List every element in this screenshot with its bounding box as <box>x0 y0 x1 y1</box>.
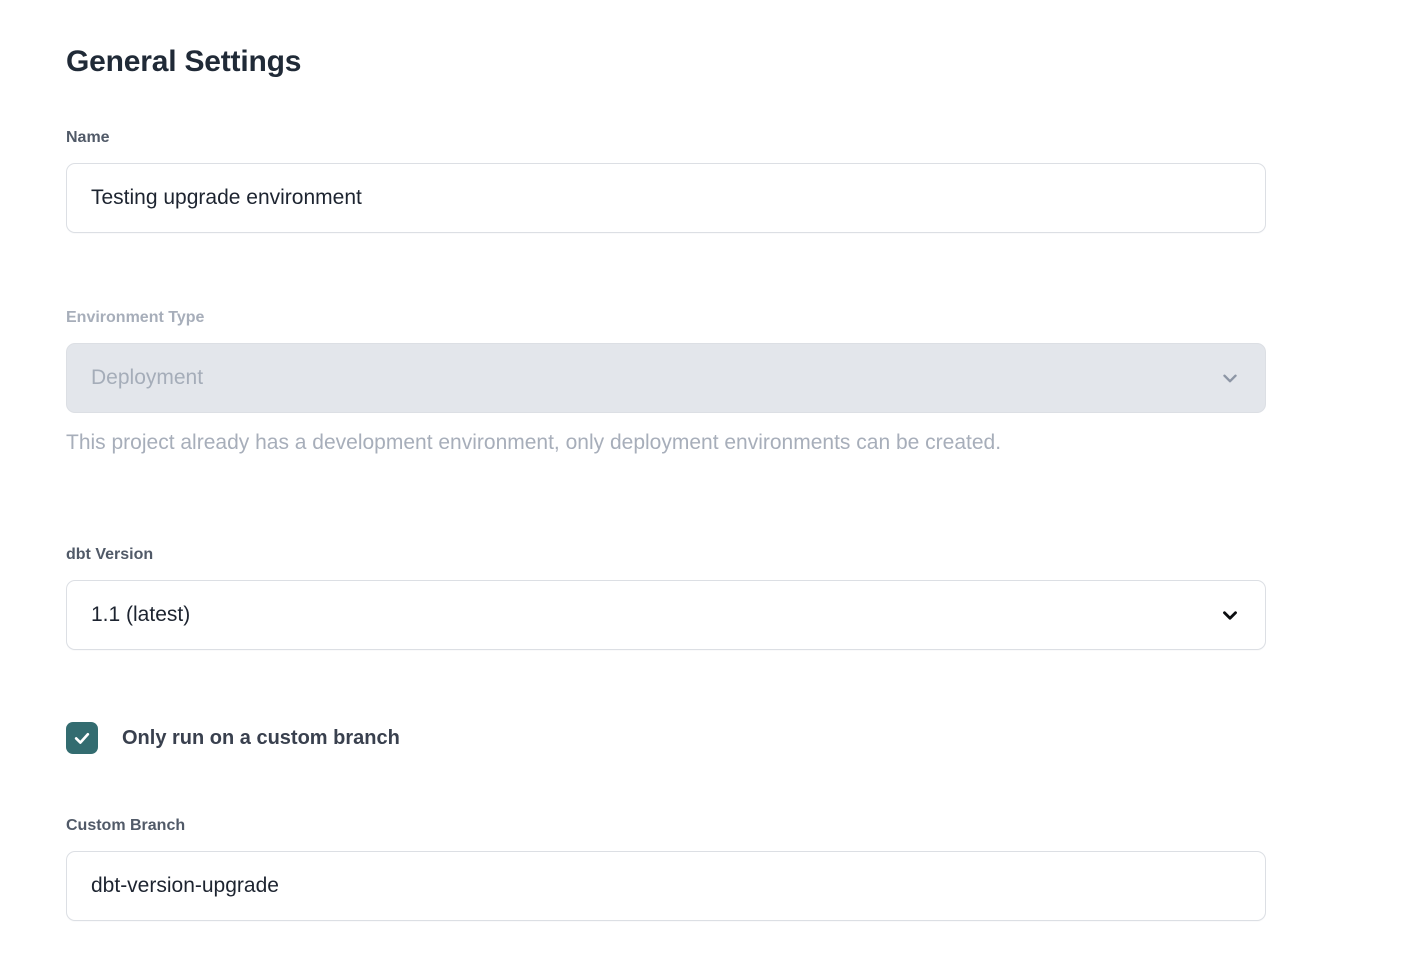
field-group-environment-type: Environment Type Deployment This project… <box>66 308 1266 457</box>
environment-type-label: Environment Type <box>66 308 1266 329</box>
environment-type-value: Deployment <box>91 367 203 388</box>
chevron-down-icon[interactable] <box>1219 604 1241 626</box>
name-input[interactable] <box>66 163 1266 233</box>
field-group-dbt-version: dbt Version 1.1 (latest) <box>66 545 1266 650</box>
field-group-name: Name <box>66 128 1266 233</box>
environment-type-select: Deployment <box>66 343 1266 413</box>
page-title: General Settings <box>66 44 301 80</box>
dbt-version-label: dbt Version <box>66 545 1266 566</box>
custom-branch-input[interactable] <box>66 851 1266 921</box>
custom-branch-toggle-row[interactable]: Only run on a custom branch <box>66 722 400 754</box>
check-icon <box>72 728 92 748</box>
chevron-down-icon <box>1219 367 1241 389</box>
custom-branch-checkbox-label[interactable]: Only run on a custom branch <box>122 728 400 748</box>
field-group-custom-branch: Custom Branch <box>66 816 1266 921</box>
dbt-version-value: 1.1 (latest) <box>91 604 190 625</box>
dbt-version-select[interactable]: 1.1 (latest) <box>66 580 1266 650</box>
custom-branch-checkbox[interactable] <box>66 722 98 754</box>
general-settings-page: General Settings Name Environment Type D… <box>0 0 1406 958</box>
environment-type-helper-text: This project already has a development e… <box>66 429 1266 457</box>
custom-branch-label: Custom Branch <box>66 816 1266 837</box>
name-label: Name <box>66 128 1266 149</box>
